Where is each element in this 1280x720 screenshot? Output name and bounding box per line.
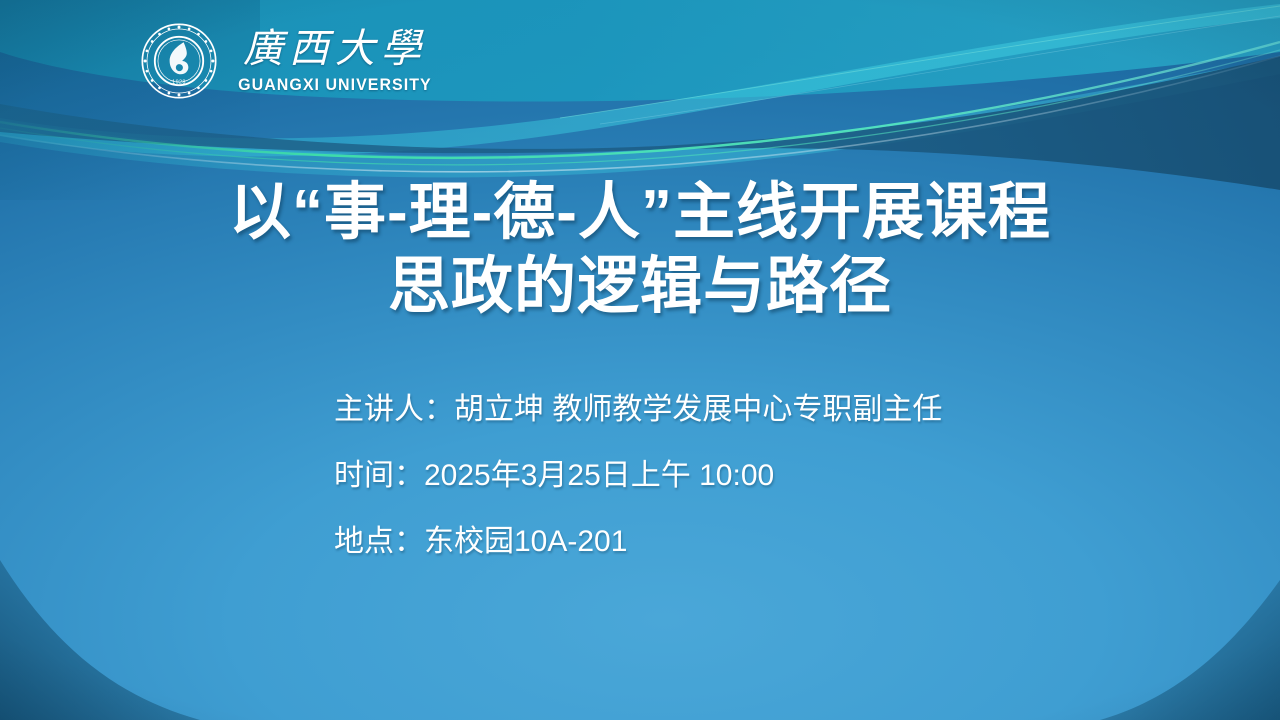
university-name-en: GUANGXI UNIVERSITY [238,75,432,95]
time-line: 时间：2025年3月25日上午 10:00 [334,461,1094,491]
location-line: 地点：东校园10A-201 [334,527,1094,557]
university-wordmark: 廣西大學 GUANGXI UNIVERSITY [232,27,438,95]
title-line-2: 思政的逻辑与路径 [0,250,1280,324]
university-name-cn: 廣西大學 [243,29,427,69]
page-title: 以“事-理-德-人”主线开展课程 思政的逻辑与路径 [0,176,1280,325]
title-line-1: 以“事-理-德-人”主线开展课程 [0,176,1280,250]
event-details: 主讲人：胡立坤 教师教学发展中心专职副主任 时间：2025年3月25日上午 10… [334,395,1094,557]
title-slide: 1928 廣西大學 GUANGXI UNIVERSITY 以“事-理-德-人”主… [0,0,1280,720]
svg-text:1928: 1928 [172,80,186,86]
university-logo: 1928 廣西大學 GUANGXI UNIVERSITY [140,22,438,100]
speaker-line: 主讲人：胡立坤 教师教学发展中心专职副主任 [334,395,1094,425]
guangxi-university-seal-icon: 1928 [140,22,218,100]
background-vignette [0,0,1280,720]
